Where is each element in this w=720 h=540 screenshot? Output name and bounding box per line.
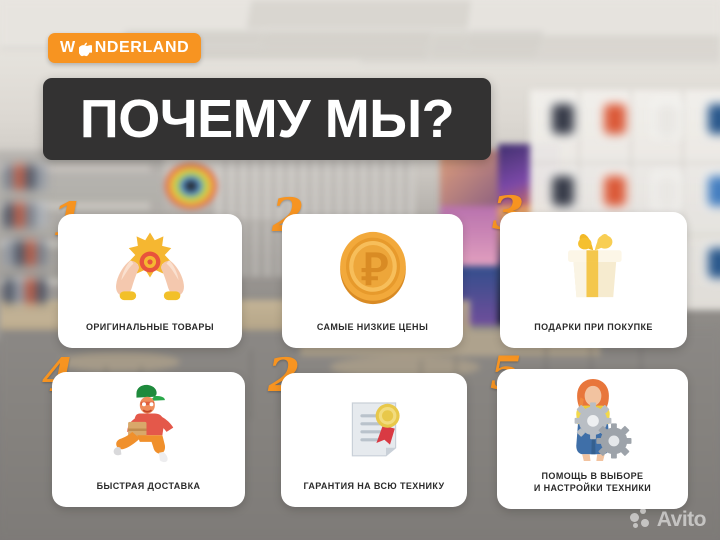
delivery-courier-icon: [52, 372, 245, 480]
certificate-award-icon: [281, 373, 467, 480]
avito-dots-icon: [630, 508, 652, 530]
feature-card-6[interactable]: ПОМОЩЬ В ВЫБОРЕ И НАСТРОЙКИ ТЕХНИКИ: [497, 369, 688, 509]
page-title: ПОЧЕМУ МЫ?: [43, 78, 491, 160]
feature-card-5-label: ГАРАНТИЯ НА ВСЮ ТЕХНИКУ: [297, 480, 450, 507]
woman-with-gears-icon: [497, 369, 688, 470]
feature-card-1[interactable]: ОРИГИНАЛЬНЫЕ ТОВАРЫ: [58, 214, 242, 348]
avito-watermark: Avito: [630, 508, 706, 530]
poster-canvas: W NDERLAND ПОЧЕМУ МЫ? 1 2 3 4 2 5: [0, 0, 720, 540]
page-title-text: ПОЧЕМУ МЫ?: [80, 92, 454, 146]
feature-card-2[interactable]: САМЫЕ НИЗКИЕ ЦЕНЫ: [282, 214, 463, 348]
feature-card-1-label: ОРИГИНАЛЬНЫЕ ТОВАРЫ: [80, 321, 220, 348]
hands-with-sparkle-icon: [58, 214, 242, 321]
logo-text-after: NDERLAND: [95, 40, 190, 56]
gift-box-icon: [500, 212, 687, 321]
avito-wordmark: Avito: [657, 509, 706, 530]
feature-card-4[interactable]: БЫСТРАЯ ДОСТАВКА: [52, 372, 245, 507]
feature-card-3-label: ПОДАРКИ ПРИ ПОКУПКЕ: [528, 321, 659, 348]
feature-card-2-label: САМЫЕ НИЗКИЕ ЦЕНЫ: [311, 321, 434, 348]
feature-card-6-label: ПОМОЩЬ В ВЫБОРЕ И НАСТРОЙКИ ТЕХНИКИ: [528, 470, 657, 509]
feature-card-4-label: БЫСТРАЯ ДОСТАВКА: [91, 480, 207, 507]
feature-card-3[interactable]: ПОДАРКИ ПРИ ПОКУПКЕ: [500, 212, 687, 348]
logo-text-before: W: [60, 40, 76, 56]
feature-card-5[interactable]: ГАРАНТИЯ НА ВСЮ ТЕХНИКУ: [281, 373, 467, 507]
ruble-coin-icon: [282, 214, 463, 321]
apple-icon: [79, 42, 92, 57]
brand-logo[interactable]: W NDERLAND: [48, 33, 201, 63]
